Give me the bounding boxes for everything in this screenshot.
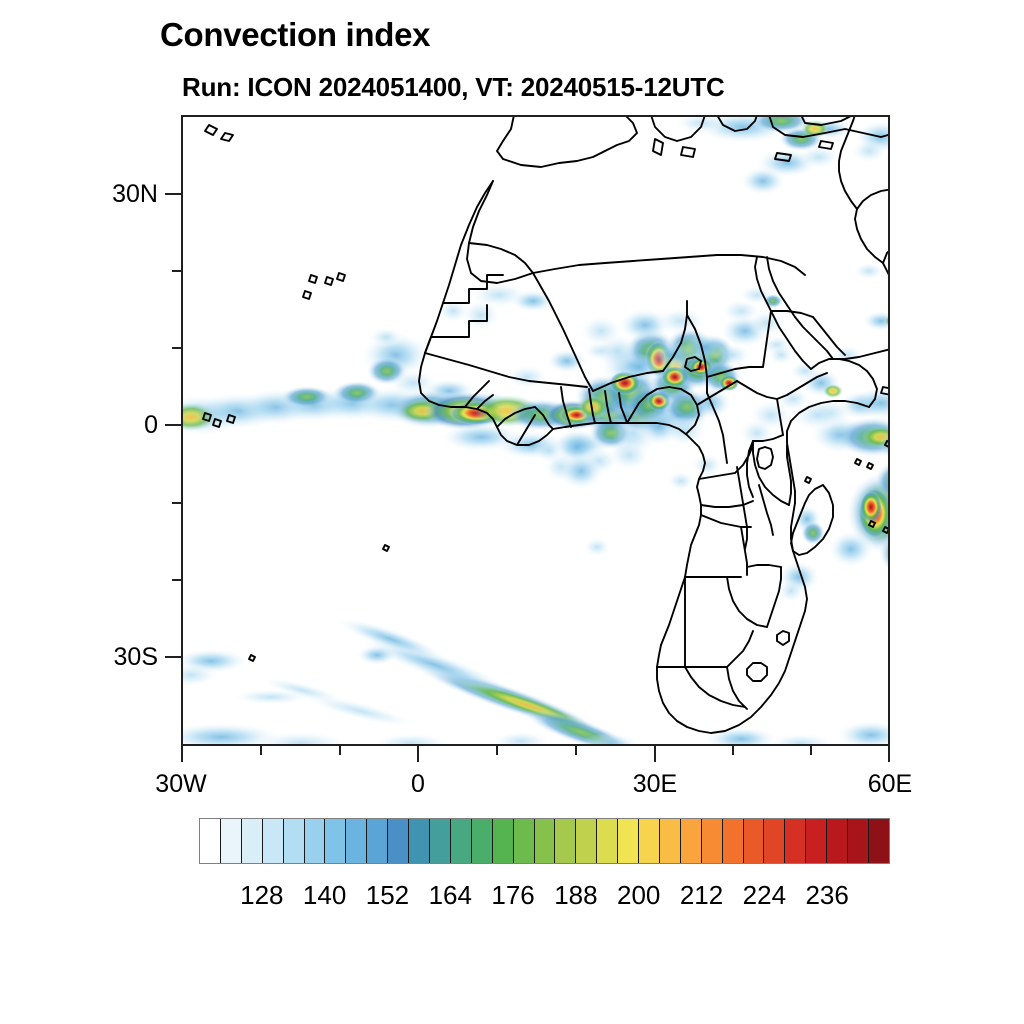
y-axis-label-30s: 30S bbox=[40, 643, 158, 672]
x-major-tick-30w bbox=[181, 746, 183, 762]
x-major-tick-30e bbox=[654, 746, 656, 762]
colorbar-cell bbox=[785, 819, 806, 863]
figure-root: Convection index Run: ICON 2024051400, V… bbox=[0, 0, 1024, 1024]
y-major-tick-30n bbox=[165, 193, 181, 195]
colorbar-cell bbox=[242, 819, 263, 863]
colorbar-cell bbox=[681, 819, 702, 863]
colorbar-cell bbox=[848, 819, 869, 863]
x-minor-tick-10w bbox=[339, 746, 341, 755]
x-axis-label-0: 0 bbox=[358, 770, 478, 799]
colorbar-cell bbox=[764, 819, 785, 863]
convection-index-map bbox=[181, 115, 890, 746]
colorbar-cell bbox=[660, 819, 681, 863]
y-major-tick-30s bbox=[165, 656, 181, 658]
colorbar-cell bbox=[514, 819, 535, 863]
x-axis-label-60e: 60E bbox=[830, 770, 950, 799]
colorbar-cell bbox=[388, 819, 409, 863]
colorbar bbox=[199, 818, 890, 864]
colorbar-cell bbox=[597, 819, 618, 863]
colorbar-cell bbox=[472, 819, 493, 863]
y-minor-tick-10s bbox=[172, 502, 181, 504]
y-minor-tick-20n bbox=[172, 270, 181, 272]
y-minor-tick-20s bbox=[172, 579, 181, 581]
colorbar-cell bbox=[221, 819, 242, 863]
colorbar-cell bbox=[325, 819, 346, 863]
colorbar-cell bbox=[451, 819, 472, 863]
colorbar-cell bbox=[618, 819, 639, 863]
y-major-tick-0 bbox=[165, 424, 181, 426]
colorbar-cell bbox=[744, 819, 765, 863]
colorbar-cell bbox=[869, 819, 889, 863]
colorbar-cell bbox=[723, 819, 744, 863]
x-axis-label-30w: 30W bbox=[121, 770, 241, 799]
run-valid-time-subtitle: Run: ICON 2024051400, VT: 20240515-12UTC bbox=[182, 72, 725, 103]
colorbar-cell bbox=[430, 819, 451, 863]
colorbar-cell bbox=[555, 819, 576, 863]
x-minor-tick-20w bbox=[260, 746, 262, 755]
colorbar-cells bbox=[199, 818, 890, 864]
colorbar-cell bbox=[305, 819, 326, 863]
x-minor-tick-40e bbox=[732, 746, 734, 755]
y-axis-label-30n: 30N bbox=[40, 180, 158, 209]
colorbar-cell bbox=[639, 819, 660, 863]
colorbar-cell bbox=[806, 819, 827, 863]
x-major-tick-60e bbox=[888, 746, 890, 762]
colorbar-cell bbox=[284, 819, 305, 863]
colorbar-tick-label: 236 bbox=[777, 880, 877, 911]
x-minor-tick-20e bbox=[575, 746, 577, 755]
y-axis-label-0: 0 bbox=[40, 411, 158, 440]
colorbar-cell bbox=[346, 819, 367, 863]
x-minor-tick-50e bbox=[810, 746, 812, 755]
colorbar-cell bbox=[263, 819, 284, 863]
y-minor-tick-10n bbox=[172, 347, 181, 349]
x-axis-label-30e: 30E bbox=[595, 770, 715, 799]
colorbar-cell bbox=[535, 819, 556, 863]
colorbar-cell bbox=[702, 819, 723, 863]
x-major-tick-0 bbox=[417, 746, 419, 762]
colorbar-cell bbox=[200, 819, 221, 863]
colorbar-cell bbox=[493, 819, 514, 863]
map-plot-area bbox=[181, 115, 890, 746]
colorbar-cell bbox=[576, 819, 597, 863]
colorbar-cell bbox=[367, 819, 388, 863]
x-minor-tick-10e bbox=[496, 746, 498, 755]
colorbar-cell bbox=[409, 819, 430, 863]
page-title: Convection index bbox=[160, 16, 430, 54]
colorbar-cell bbox=[827, 819, 848, 863]
